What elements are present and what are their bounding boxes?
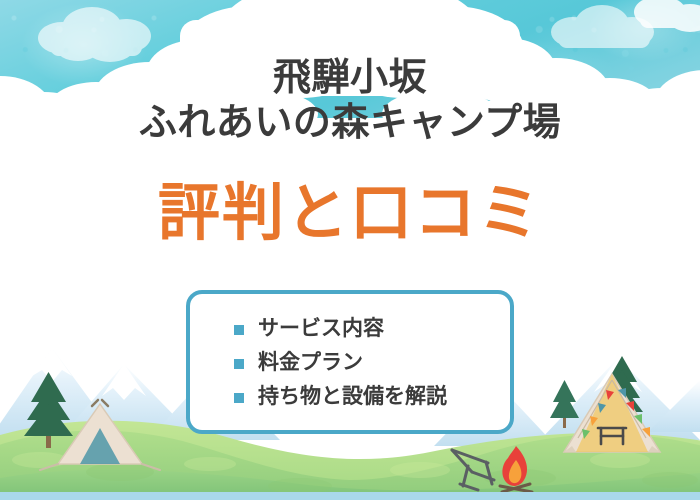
bottom-accent-strip (0, 492, 700, 500)
square-bullet-icon (234, 325, 244, 335)
list-item-label: 料金プラン (258, 347, 363, 379)
list-item: 料金プラン (190, 346, 510, 380)
highlights-box: サービス内容 料金プラン 持ち物と設備を解説 (186, 290, 514, 434)
square-bullet-icon (234, 393, 244, 403)
square-bullet-icon (234, 359, 244, 369)
highlights-list: サービス内容 料金プラン 持ち物と設備を解説 (190, 312, 510, 414)
headline-block: 評判と口コミ (0, 183, 700, 245)
list-item: 持ち物と設備を解説 (190, 380, 510, 414)
list-item-label: 持ち物と設備を解説 (258, 381, 447, 413)
page-title-line-1: 飛騨小坂 (0, 56, 700, 101)
headline-text: 評判と口コミ (158, 183, 542, 245)
list-item: サービス内容 (190, 312, 510, 346)
page-title-line-2: ふれあいの森キャンプ場 (0, 101, 700, 146)
list-item-label: サービス内容 (258, 313, 384, 345)
cloud-small-left (38, 7, 151, 62)
title-block: 飛騨小坂 ふれあいの森キャンプ場 (0, 56, 700, 146)
campsite-review-banner: 飛騨小坂 ふれあいの森キャンプ場 評判と口コミ サービス内容 料金プラン 持ち物… (0, 0, 700, 500)
